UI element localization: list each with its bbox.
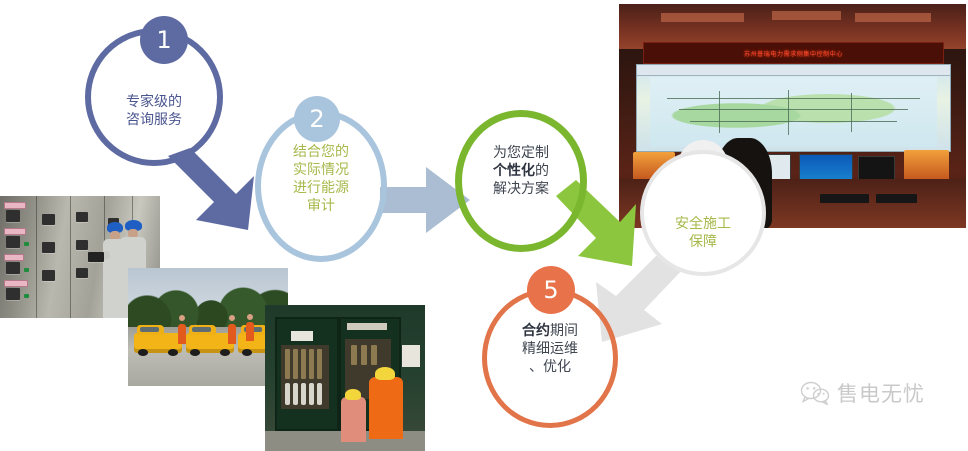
control-center-banner: 苏州普瑞电力需求侧集中控制中心 <box>643 42 943 64</box>
step-1-number-badge: 1 <box>140 16 188 64</box>
watermark: 售电无忧 <box>800 378 925 408</box>
wechat-icon <box>800 381 830 405</box>
step-4-line-2: 保障 <box>644 234 762 252</box>
step-3-line-2-suffix: 的 <box>535 163 549 179</box>
step-5-number-badge: 5 <box>527 266 575 314</box>
step-3-line-1: 为您定制 <box>462 145 580 163</box>
step-5-label: 合约期间 精细运维 、优化 <box>487 323 613 377</box>
step-5-line-1-suffix: 期间 <box>550 323 578 339</box>
step-1-label: 专家级的 咨询服务 <box>91 94 217 130</box>
step-4-ring[interactable]: 安全施工 保障 <box>640 150 766 276</box>
step-2-label: 结合您的 实际情况 进行能源 审计 <box>261 144 381 216</box>
step-2-number-badge: 2 <box>294 96 340 142</box>
step-4-label: 安全施工 保障 <box>644 216 762 252</box>
step-5-emphasis: 合约 <box>522 323 550 339</box>
control-center-banner-text: 苏州普瑞电力需求侧集中控制中心 <box>744 49 843 58</box>
step-3-label: 为您定制 个性化的 解决方案 <box>462 145 580 199</box>
step-5-line-2: 精细运维 <box>487 341 613 359</box>
step-3-ring[interactable]: 为您定制 个性化的 解决方案 <box>455 110 587 252</box>
step-2-line-1: 结合您的 <box>261 144 381 162</box>
photo-service-trucks <box>128 268 288 386</box>
step-5-line-1: 合约期间 <box>487 323 613 341</box>
step-1-line-2: 咨询服务 <box>91 112 217 130</box>
step-2-line-2: 实际情况 <box>261 162 381 180</box>
step-1-line-1: 专家级的 <box>91 94 217 112</box>
step-3-line-2: 个性化的 <box>462 163 580 181</box>
step-2-line-4: 审计 <box>261 198 381 216</box>
step-3-line-3: 解决方案 <box>462 181 580 199</box>
step-3-emphasis: 个性化 <box>493 163 535 179</box>
watermark-text: 售电无忧 <box>837 378 925 408</box>
step-2-line-3: 进行能源 <box>261 180 381 198</box>
photo-cabinet-maintenance <box>265 305 425 451</box>
step-2-number: 2 <box>309 105 324 133</box>
step-5-number: 5 <box>543 276 558 304</box>
step-4-line-1: 安全施工 <box>644 216 762 234</box>
diagram-canvas: 苏州普瑞电力需求侧集中控制中心 <box>0 0 968 451</box>
step-1-number: 1 <box>156 26 171 54</box>
step-5-line-3: 、优化 <box>487 359 613 377</box>
